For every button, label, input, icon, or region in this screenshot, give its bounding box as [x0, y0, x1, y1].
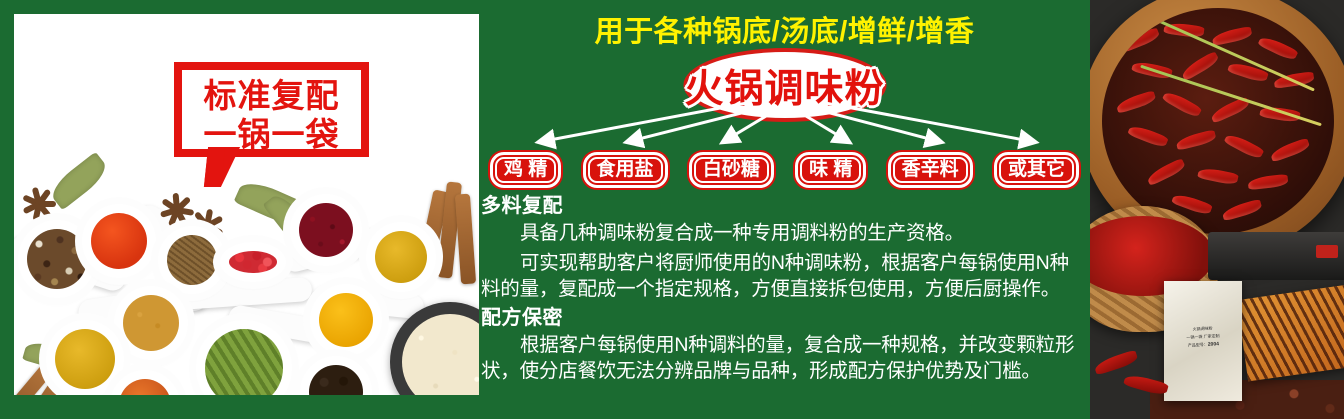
- loose-chili: [1093, 350, 1139, 376]
- section-1-paragraph-2: 可实现帮助客户将厨师使用的N种调味粉，根据客户每锅使用N种料的量，复配成一个指定…: [481, 250, 1086, 303]
- wok-interior: [1102, 8, 1334, 234]
- ingredient-tag-5[interactable]: 香辛料: [888, 152, 973, 188]
- bay-leaf: [47, 152, 112, 211]
- package-label: 火锅调味粉 一锅一袋 厂家定制 产品型号：2004: [1173, 323, 1232, 350]
- ingredient-tag-1[interactable]: 鸡 精: [490, 152, 561, 188]
- chili-paste-block: [1237, 285, 1344, 382]
- right-photo-panel: 火锅调味粉 一锅一袋 厂家定制 产品型号：2004: [1090, 0, 1344, 419]
- description-body: 多料复配 具备几种调味粉复合成一种专用调料粉的生产资格。 可实现帮助客户将厨师使…: [481, 194, 1086, 388]
- cinnamon-stick: [455, 194, 476, 285]
- induction-stove: [1208, 232, 1344, 280]
- spice-assortment-photo: 标准复配 一锅一袋: [14, 14, 479, 395]
- page-headline: 用于各种锅底/汤底/增鲜/增香: [479, 8, 1090, 50]
- ingredient-tag-list: 鸡 精 食用盐 白砂糖 味 精 香辛料 或其它: [490, 152, 1079, 188]
- arrow-diagram: [479, 95, 1090, 157]
- ingredient-tag-6[interactable]: 或其它: [994, 152, 1079, 188]
- ingredient-tag-4[interactable]: 味 精: [795, 152, 866, 188]
- ingredient-tag-3-label: 白砂糖: [703, 159, 760, 180]
- section-2-title: 配方保密: [481, 306, 1086, 331]
- ingredient-tag-6-label: 或其它: [1008, 159, 1065, 180]
- ingredient-tag-4-label: 味 精: [809, 159, 852, 180]
- section-1-title: 多料复配: [481, 194, 1086, 219]
- ingredient-tag-1-label: 鸡 精: [504, 159, 547, 180]
- arrow-to-tag-6: [825, 103, 1035, 142]
- arrow-to-tag-1: [539, 103, 747, 142]
- spice-bowl-turmeric: [310, 284, 382, 356]
- left-photo-panel: 标准复配 一锅一袋: [14, 14, 479, 395]
- spice-bowl-paprika: [82, 204, 156, 278]
- star-anise: [22, 184, 56, 218]
- ingredient-tag-3[interactable]: 白砂糖: [689, 152, 774, 188]
- bubble-line-1: 标准复配: [182, 79, 361, 112]
- spice-bowl-cumin: [158, 226, 226, 294]
- bubble-tail: [204, 147, 240, 187]
- ingredient-tag-2-label: 食用盐: [597, 159, 654, 180]
- spice-bowl-mustard-seed: [114, 286, 188, 360]
- poster-root: 标准复配 一锅一袋 用于各种锅底/汤底/增鲜/增香 火锅调味粉: [0, 0, 1344, 419]
- spice-bowl-black-pepper: [300, 356, 372, 395]
- spice-bowl-curry: [366, 222, 436, 292]
- package-model: 2004: [1208, 341, 1219, 348]
- stove-indicator: [1316, 245, 1338, 258]
- spoon-pink-peppercorn: [220, 242, 286, 282]
- ingredient-tag-5-label: 香辛料: [902, 159, 959, 180]
- product-package-bag: 火锅调味粉 一锅一袋 厂家定制 产品型号：2004: [1164, 281, 1242, 401]
- package-label-line-3: 产品型号：: [1188, 342, 1208, 348]
- center-content: 用于各种锅底/汤底/增鲜/增香 火锅调味粉 鸡 精 食用盐 白砂: [479, 0, 1090, 419]
- star-anise: [160, 190, 194, 224]
- loose-chili: [1123, 372, 1169, 397]
- section-2-paragraph-1: 根据客户每锅使用N种调料的量，复合成一种规格，并改变颗粒形状，使分店餐饮无法分辨…: [481, 332, 1086, 385]
- spice-bowl-sumac: [290, 194, 362, 266]
- section-1-paragraph-1: 具备几种调味粉复合成一种专用调料粉的生产资格。: [481, 220, 1086, 247]
- ingredient-tag-2[interactable]: 食用盐: [583, 152, 668, 188]
- speech-bubble-callout: 标准复配 一锅一袋: [174, 62, 369, 157]
- spice-bowl-curry-powder: [46, 320, 124, 395]
